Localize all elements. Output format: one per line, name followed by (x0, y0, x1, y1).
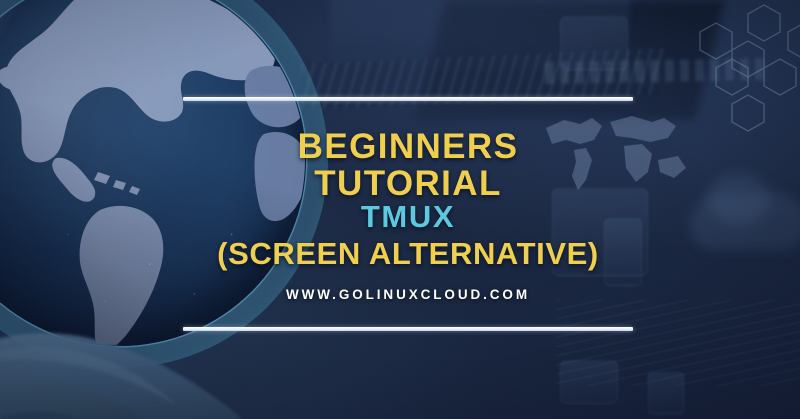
site-url: WWW.GOLINUXCLOUD.COM (183, 287, 633, 302)
banner: BEGINNERS TUTORIAL TMUX (SCREEN ALTERNAT… (0, 0, 800, 419)
cloud-icon (690, 192, 800, 250)
headline-text-tmux: TMUX (361, 199, 455, 234)
headline-line-1: BEGINNERS (183, 129, 633, 164)
top-divider-rule (183, 97, 633, 101)
headline-line-2: TUTORIAL (183, 166, 633, 201)
headline-line-4: (SCREEN ALTERNATIVE) (183, 238, 633, 269)
hexagon-pattern-icon (648, 4, 800, 164)
headline-text-tutorial: TUTORIAL (314, 164, 501, 203)
headline-text-beginners: BEGINNERS (298, 127, 519, 166)
bottom-divider-rule (183, 327, 633, 331)
headline-text-screen-alternative: (SCREEN ALTERNATIVE) (217, 236, 599, 271)
banner-content: BEGINNERS TUTORIAL TMUX (SCREEN ALTERNAT… (183, 0, 633, 419)
headline-line-3: TMUX (183, 201, 633, 232)
